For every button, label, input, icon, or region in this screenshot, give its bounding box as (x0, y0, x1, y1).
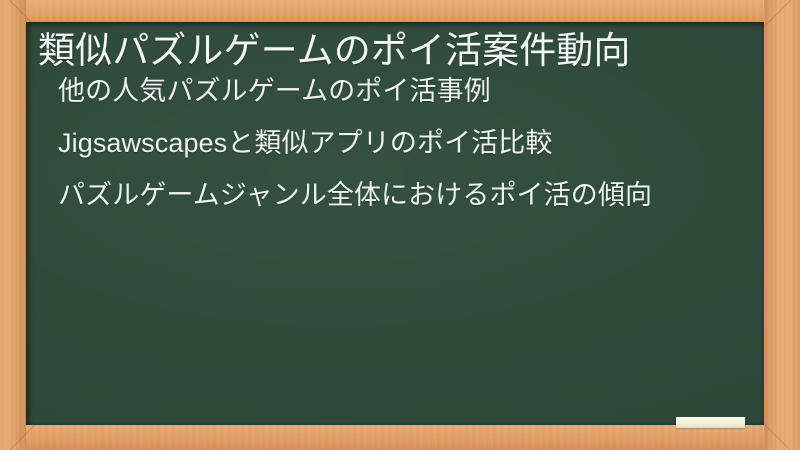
slide-title: 類似パズルゲームのポイ活案件動向 (38, 30, 750, 71)
bullet-item-1: 他の人気パズルゲームのポイ活事例 (58, 77, 750, 106)
frame-rail-top (0, 0, 800, 22)
bullet-list: 他の人気パズルゲームのポイ活事例 Jigsawscapesと類似アプリのポイ活比… (58, 77, 750, 209)
bullet-item-2: Jigsawscapesと類似アプリのポイ活比較 (58, 129, 750, 158)
chalkboard-slide: 類似パズルゲームのポイ活案件動向 他の人気パズルゲームのポイ活事例 Jigsaw… (0, 0, 800, 450)
chalkboard-surface: 類似パズルゲームのポイ活案件動向 他の人気パズルゲームのポイ活事例 Jigsaw… (26, 22, 764, 425)
frame-rail-right (764, 0, 800, 450)
frame-rail-left (0, 0, 26, 450)
frame-rail-bottom (0, 425, 800, 450)
chalk-stick-icon (676, 417, 745, 428)
chalkboard-content: 類似パズルゲームのポイ活案件動向 他の人気パズルゲームのポイ活事例 Jigsaw… (26, 22, 764, 425)
bullet-item-3: パズルゲームジャンル全体におけるポイ活の傾向 (58, 181, 750, 210)
